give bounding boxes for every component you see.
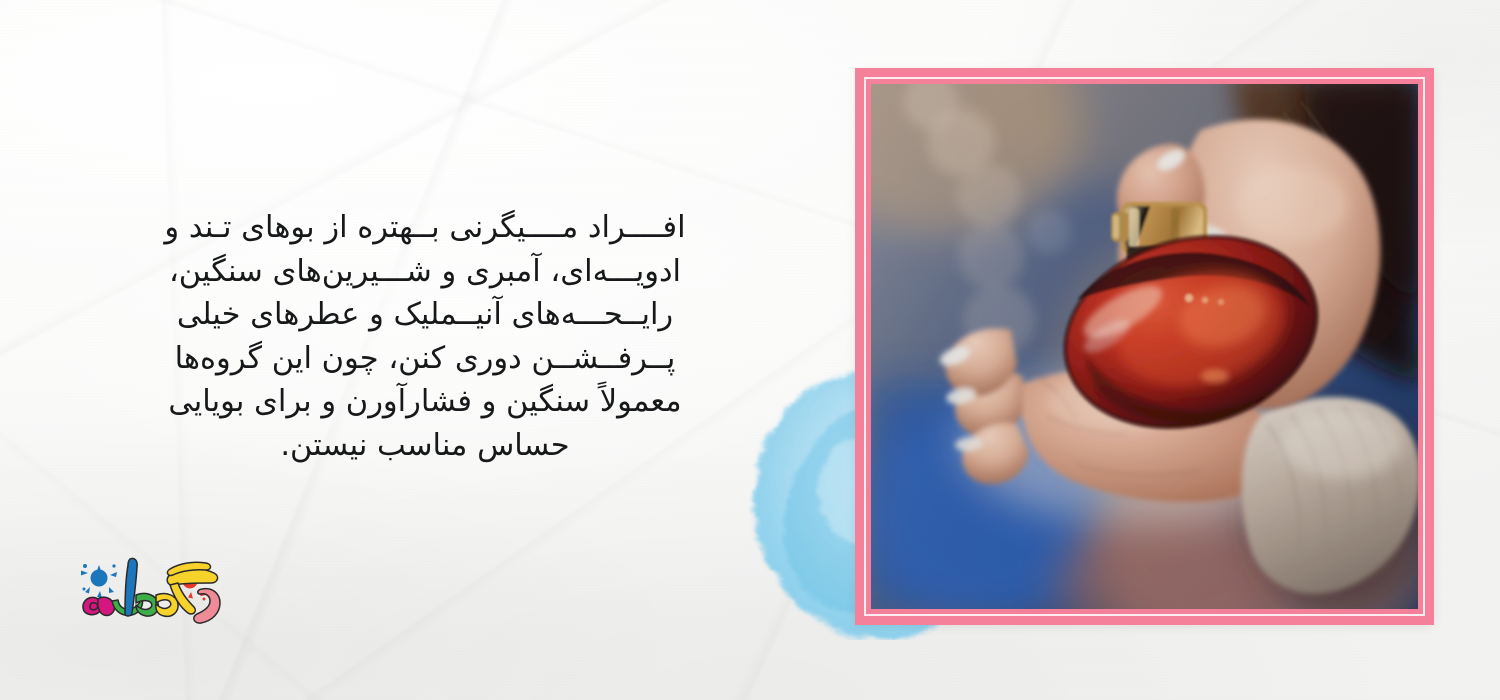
body-line: ادویـــه‌ای، آمبری و شـــیرین‌های سنگین،: [130, 250, 720, 294]
body-line: افــــراد مــــیگرنی بــهتره از بوهای تـ…: [130, 206, 720, 250]
perfume-photo: [871, 84, 1418, 609]
photo-frame: [855, 68, 1434, 625]
body-line: رایــحـــه‌های آنیــملیک و عطرهای خیلی: [130, 293, 720, 337]
logo-letter-re: [194, 589, 220, 623]
body-line: پــرفــشــن دوری کنن، چون این گروه‌ها: [130, 337, 720, 381]
body-text-block: افــــراد مــــیگرنی بــهتره از بوهای تـ…: [130, 206, 720, 467]
rangdaneh-logo[interactable]: [70, 545, 230, 635]
body-line: حساس مناسب نیستن.: [130, 424, 720, 468]
infographic-canvas: افــــراد مــــیگرنی بــهتره از بوهای تـ…: [0, 0, 1500, 700]
paint-splatter-blue: [81, 564, 117, 598]
body-line: معمولاً سنگین و فشارآورن و برای بویایی: [130, 380, 720, 424]
